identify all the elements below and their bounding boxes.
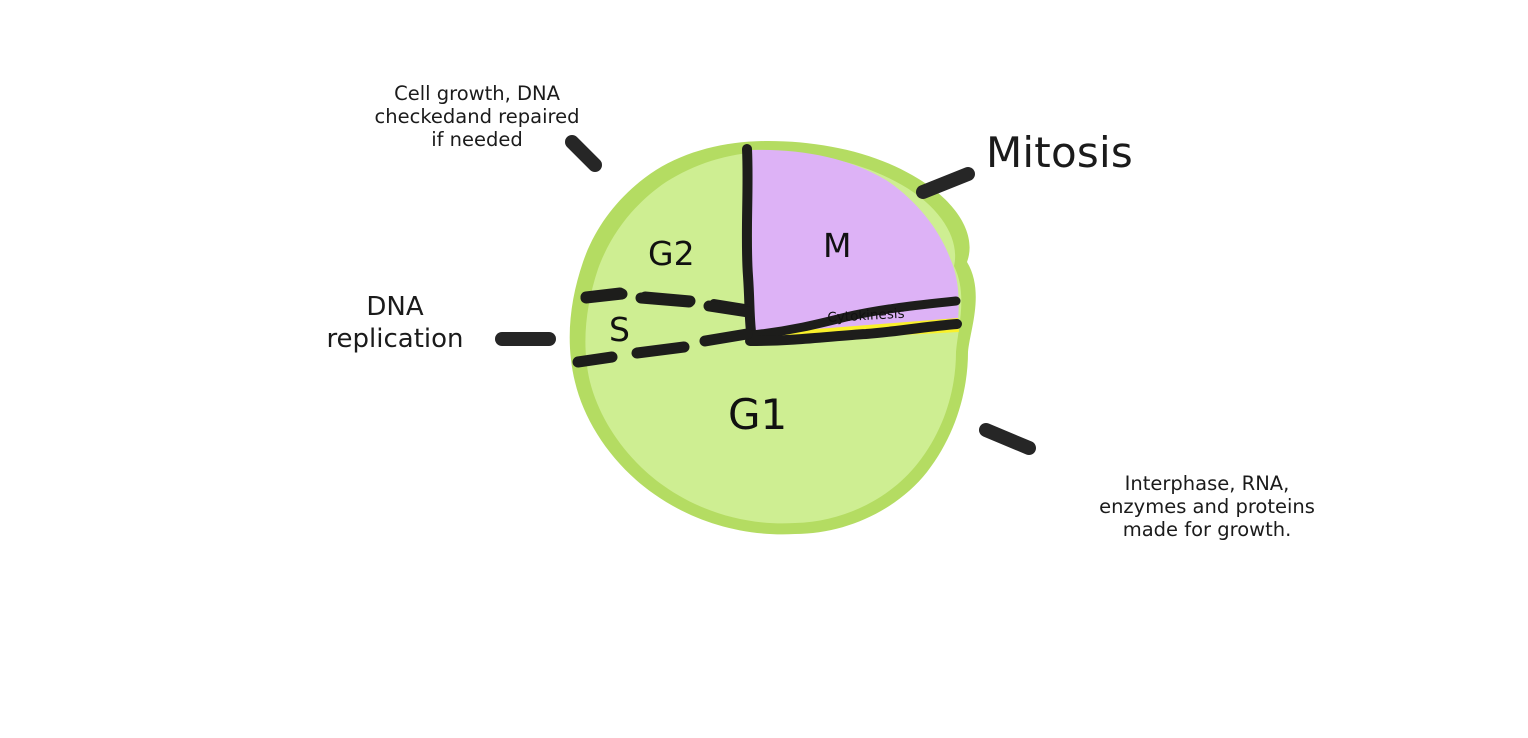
phase-label-g1: G1 <box>728 390 787 439</box>
annotation-dna-replication: DNA replication <box>300 292 490 355</box>
pointer-dash-bottom-right <box>986 430 1029 448</box>
cell-cycle-figure: M <box>0 0 1528 738</box>
phase-label-s: S <box>609 310 630 349</box>
annotation-mitosis-title: Mitosis <box>986 128 1133 178</box>
annotation-cell-growth: Cell growth, DNA checkedand repaired if … <box>362 82 592 151</box>
phase-label-m: M <box>823 226 851 265</box>
annotation-interphase: Interphase, RNA, enzymes and proteins ma… <box>1092 472 1322 541</box>
phase-label-g2: G2 <box>648 234 695 273</box>
cell-cycle-diagram: M G2 S G1 Cytokinesis Cell growth, DNA c… <box>0 0 1528 738</box>
pointer-dash-mitosis <box>923 174 968 192</box>
